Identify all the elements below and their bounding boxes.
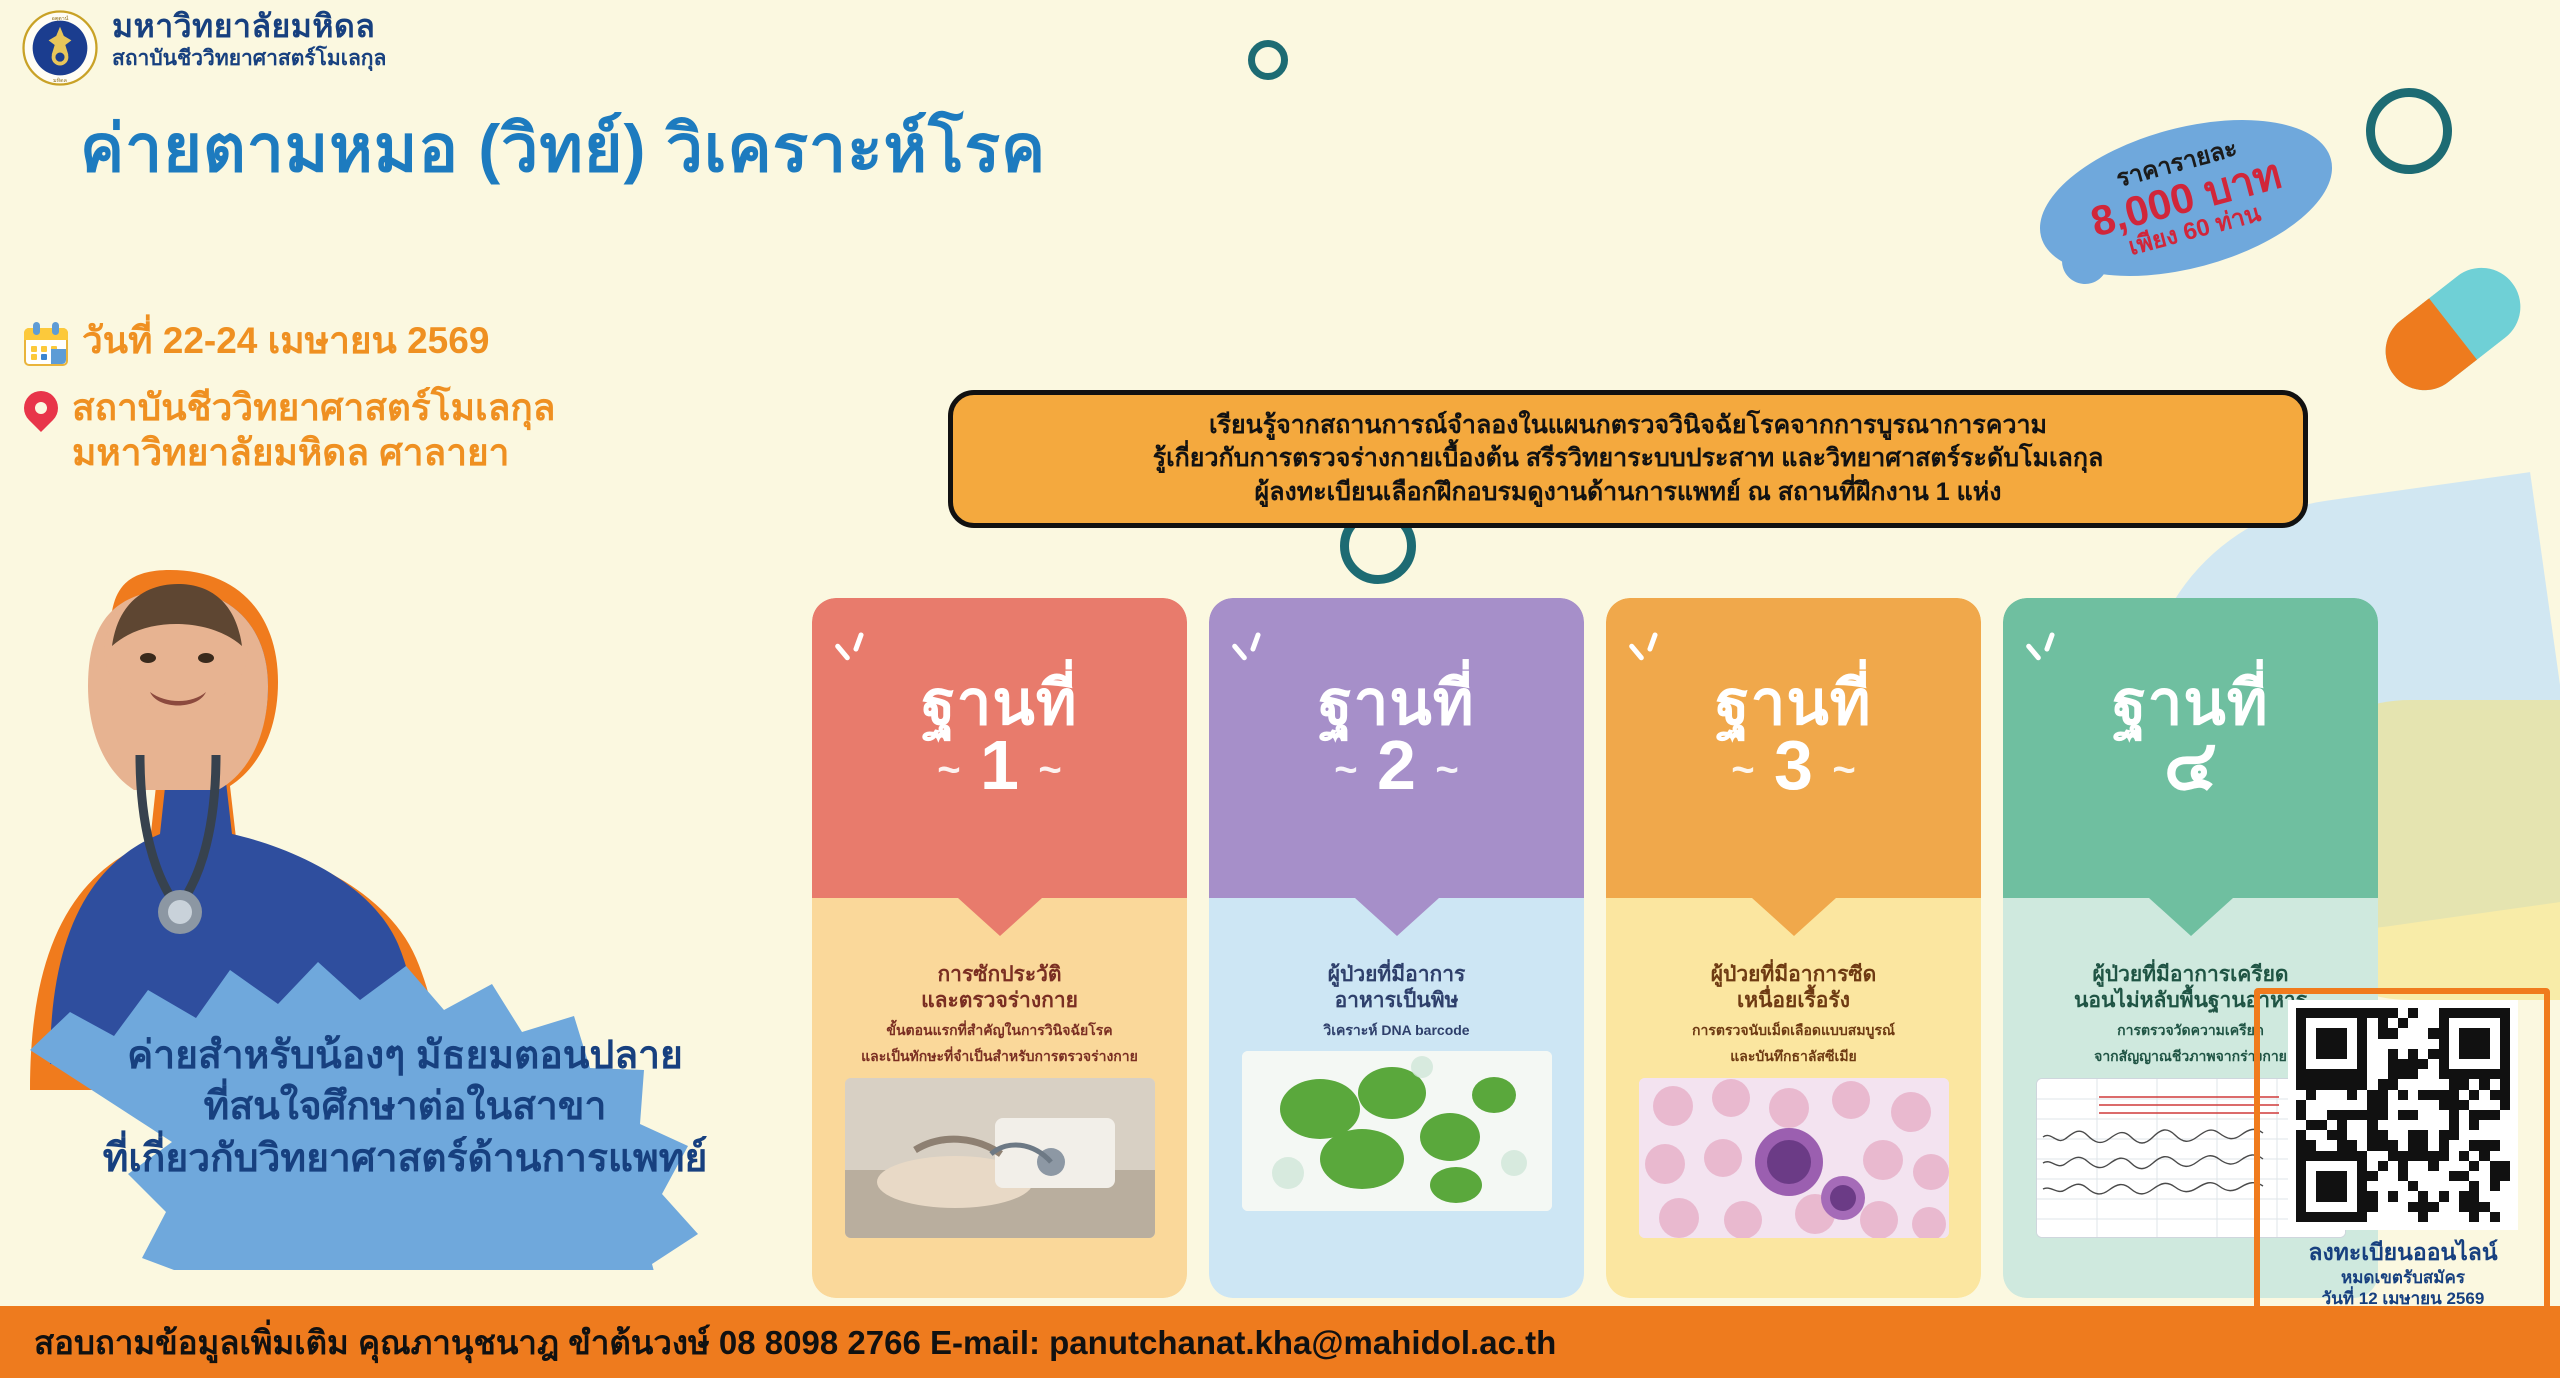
station-4-number: ๔ [2164,730,2217,800]
station-4-header: ฐานที่ ๔ [2003,598,2378,898]
camp-line-3: ที่เกี่ยวกับวิทยาศาสตร์ด้านการแพทย์ [10,1133,800,1184]
station-1-title-line1: การซักประวัติ [937,962,1061,988]
station-card-2[interactable]: ฐานที่ ~ 2 ~ ผู้ป่วยที่มีอาการ อาหารเป็น… [1209,598,1584,1298]
sparkle-icon [2029,632,2075,678]
calendar-icon [24,322,68,366]
station-4-title-line1: ผู้ป่วยที่มีอาการเครียด [2092,962,2288,988]
university-name: มหาวิทยาลัยมหิดล [112,10,386,44]
event-date-text: วันที่ 22-24 เมษายน 2569 [82,318,489,363]
station-2-image [1242,1051,1552,1211]
map-pin-icon [24,391,58,437]
station-card-1[interactable]: ฐานที่ ~ 1 ~ การซักประวัติ และตรวจร่างกา… [812,598,1187,1298]
qr-registration-panel[interactable]: ลงทะเบียนออนไลน์ หมดเขตรับสมัคร วันที่ 1… [2268,1000,2538,1309]
decorative-ring-icon [1248,40,1288,80]
description-line-3: ผู้ลงทะเบียนเลือกฝึกอบรมดูงานด้านการแพทย… [1255,477,2002,509]
station-2-title-line2: อาหารเป็นพิษ [1335,988,1459,1014]
description-box: เรียนรู้จากสถานการณ์จำลองในแผนกตรวจวินิจ… [948,390,2308,528]
station-1-sub-line2: และเป็นทักษะที่จำเป็นสำหรับการตรวจร่างกา… [861,1047,1138,1065]
brand-header: อตฺตานํ มหิดล มหาวิทยาลัยมหิดล สถาบันชีว… [22,10,386,86]
station-3-image [1639,1078,1949,1238]
decorative-ring-icon [2366,88,2452,174]
sparkle-icon [1632,632,1678,678]
camp-description: ค่ายสำหรับน้องๆ มัธยมตอนปลาย ที่สนใจศึกษ… [10,1030,800,1184]
station-1-title-line2: และตรวจร่างกาย [921,988,1078,1014]
camp-line-2: ที่สนใจศึกษาต่อในสาขา [10,1081,800,1132]
station-4-sub-line1: การตรวจวัดความเครียด [2117,1021,2264,1039]
svg-text:มหิดล: มหิดล [53,77,67,84]
station-1-image [845,1078,1155,1238]
station-2-title-line1: ผู้ป่วยที่มีอาการ [1328,962,1466,988]
station-1-header: ฐานที่ ~ 1 ~ [812,598,1187,898]
station-2-number: ~ 2 ~ [1334,730,1459,800]
station-2-header: ฐานที่ ~ 2 ~ [1209,598,1584,898]
station-1-sub-line1: ขั้นตอนแรกที่สำคัญในการวินิจฉัยโรค [886,1021,1112,1039]
station-3-title-line1: ผู้ป่วยที่มีอาการซีด [1711,962,1877,988]
sparkle-icon [838,632,884,678]
station-3-sub-line1: การตรวจนับเม็ดเลือดแบบสมบูรณ์ [1692,1021,1895,1039]
station-3-sub-line2: และบันทึกธาลัสซีเมีย [1730,1047,1857,1065]
event-place-line1: สถาบันชีววิทยาศาสตร์โมเลกุล [72,385,555,430]
station-3-number: ~ 3 ~ [1731,730,1856,800]
sparkle-icon [1235,632,1281,678]
station-2-body: ผู้ป่วยที่มีอาการ อาหารเป็นพิษ วิเคราะห์… [1209,898,1584,1298]
svg-text:อตฺตานํ: อตฺตานํ [52,15,69,22]
contact-text: สอบถามข้อมูลเพิ่มเติม คุณภานุชนาฎ ขำต้นว… [0,1316,1556,1369]
station-2-sub-line1: วิเคราะห์ DNA barcode [1323,1021,1469,1039]
camp-line-1: ค่ายสำหรับน้องๆ มัธยมตอนปลาย [10,1030,800,1081]
station-cards: ฐานที่ ~ 1 ~ การซักประวัติ และตรวจร่างกา… [812,598,2392,1298]
station-1-number: ~ 1 ~ [937,730,1062,800]
station-card-3[interactable]: ฐานที่ ~ 3 ~ ผู้ป่วยที่มีอาการซีด เหนื่อ… [1606,598,1981,1298]
mahidol-seal-icon: อตฺตานํ มหิดล [22,10,98,86]
event-place-row: สถาบันชีววิทยาศาสตร์โมเลกุล มหาวิทยาลัยม… [24,385,555,475]
page-title: ค่ายตามหมอ (วิทย์) วิเคราะห์โรค [80,96,1046,201]
station-3-title-line2: เหนื่อยเรื้อรัง [1737,988,1850,1014]
description-line-1: เรียนรู้จากสถานการณ์จำลองในแผนกตรวจวินิจ… [1209,410,2047,442]
description-line-2: รู้เกี่ยวกับการตรวจร่างกายเบื้องต้น สรีร… [1153,443,2104,475]
contact-footer: สอบถามข้อมูลเพิ่มเติม คุณภานุชนาฎ ขำต้นว… [0,1306,2560,1378]
station-1-body: การซักประวัติ และตรวจร่างกาย ขั้นตอนแรกท… [812,898,1187,1298]
qr-caption-line2: หมดเขตรับสมัคร [2308,1267,2497,1288]
event-place-line2: มหาวิทยาลัยมหิดล ศาลายา [72,430,555,475]
qr-caption-line1: ลงทะเบียนออนไลน์ [2308,1238,2497,1267]
qr-code-icon[interactable] [2288,1000,2518,1230]
capsule-pill-icon [2370,252,2536,406]
institute-name: สถาบันชีววิทยาศาสตร์โมเลกุล [112,47,386,70]
event-date-row: วันที่ 22-24 เมษายน 2569 [24,318,489,366]
station-3-body: ผู้ป่วยที่มีอาการซีด เหนื่อยเรื้อรัง การ… [1606,898,1981,1298]
station-3-header: ฐานที่ ~ 3 ~ [1606,598,1981,898]
